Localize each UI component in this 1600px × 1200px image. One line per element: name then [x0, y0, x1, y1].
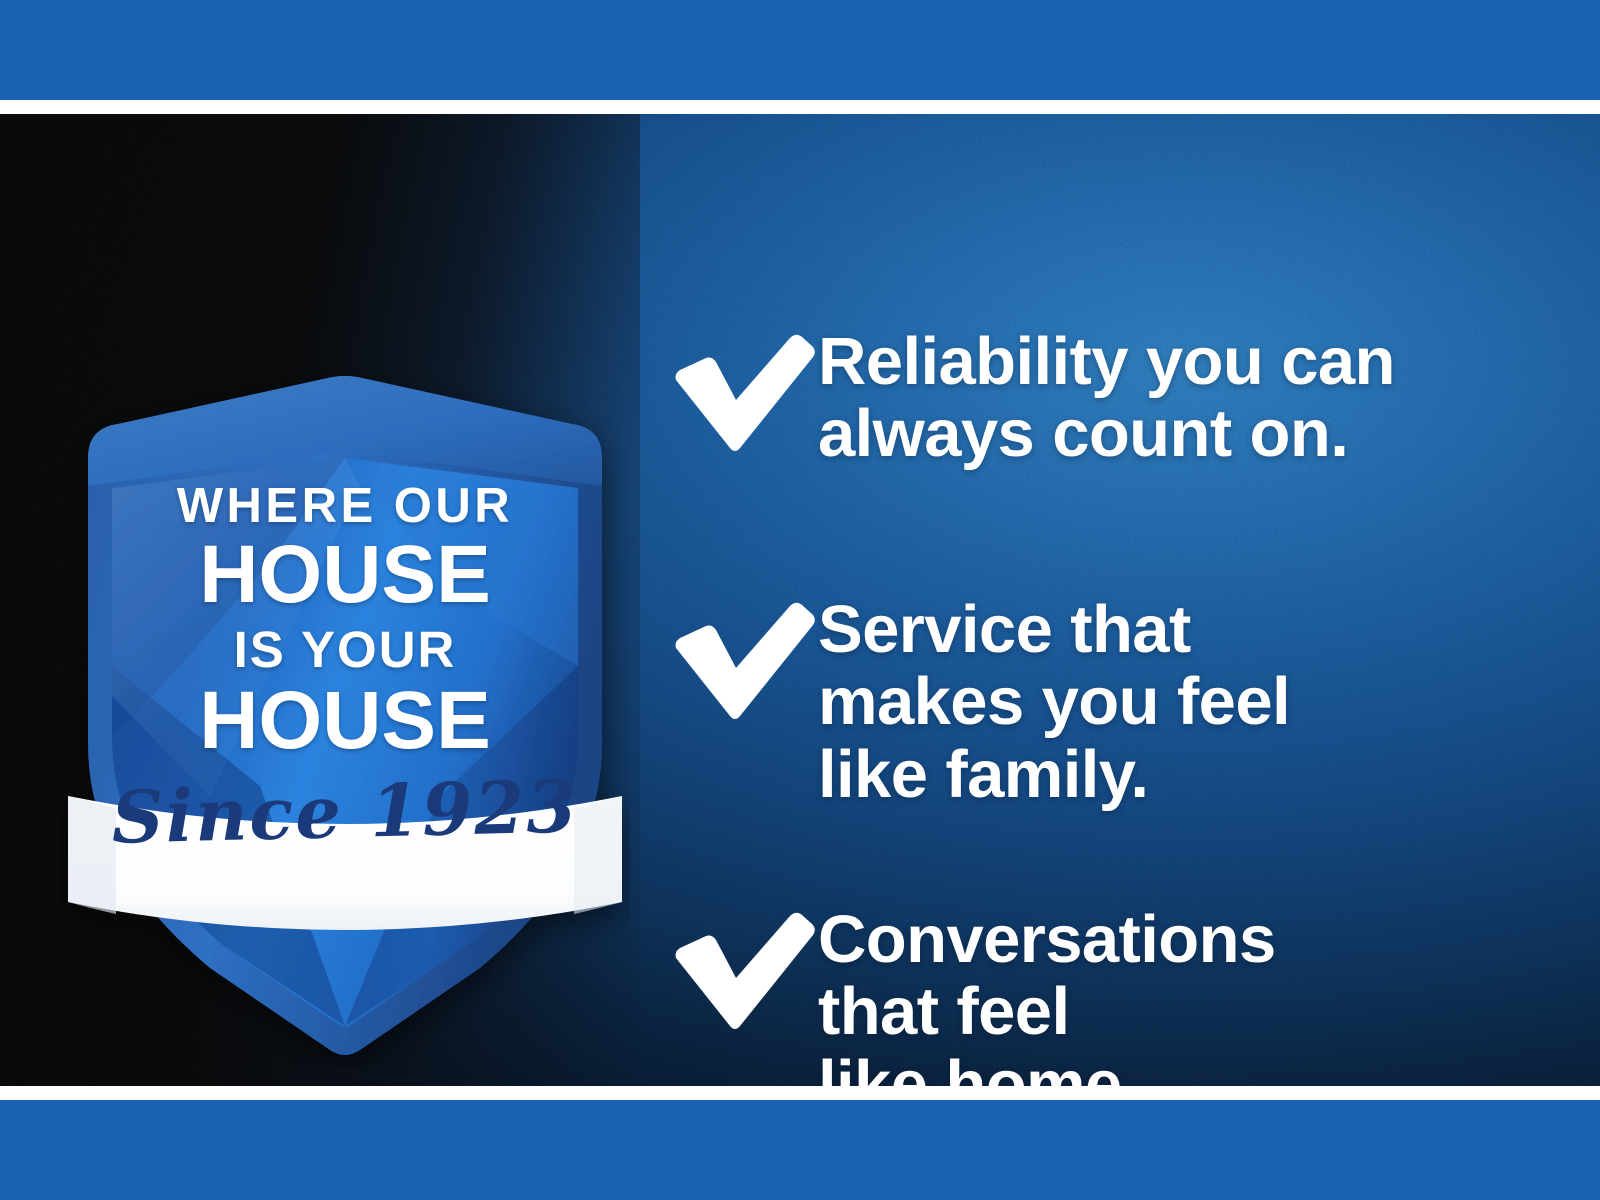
list-item: Conversations that feel like home. [668, 904, 1548, 1086]
list-item-label: Service that makes you feel like family. [818, 594, 1548, 811]
top-brand-bar [0, 0, 1600, 100]
check-icon [668, 600, 818, 720]
badge-banner-text: Since 1923 [59, 769, 631, 855]
check-icon [668, 332, 818, 452]
benefits-list: Reliability you can always count on. Ser… [668, 304, 1548, 1086]
list-item: Reliability you can always count on. [668, 326, 1548, 471]
shield-logo: WHERE OUR HOUSE IS YOUR HOUSE Since 1923 [60, 366, 630, 1066]
list-item-label: Conversations that feel like home. [818, 904, 1548, 1086]
bottom-brand-bar [0, 1100, 1600, 1200]
badge-tagline-line-2: HOUSE [60, 534, 630, 616]
badge-tagline-line-1: WHERE OUR [60, 482, 630, 531]
promo-graphic: WHERE OUR HOUSE IS YOUR HOUSE Since 1923… [0, 0, 1600, 1200]
check-icon [668, 910, 818, 1030]
badge-tagline-line-3: IS YOUR [60, 624, 630, 675]
badge-tagline-line-4: HOUSE [60, 680, 630, 762]
list-item-label: Reliability you can always count on. [818, 326, 1548, 471]
list-item: Service that makes you feel like family. [668, 594, 1548, 811]
main-panel: WHERE OUR HOUSE IS YOUR HOUSE Since 1923… [0, 114, 1600, 1086]
